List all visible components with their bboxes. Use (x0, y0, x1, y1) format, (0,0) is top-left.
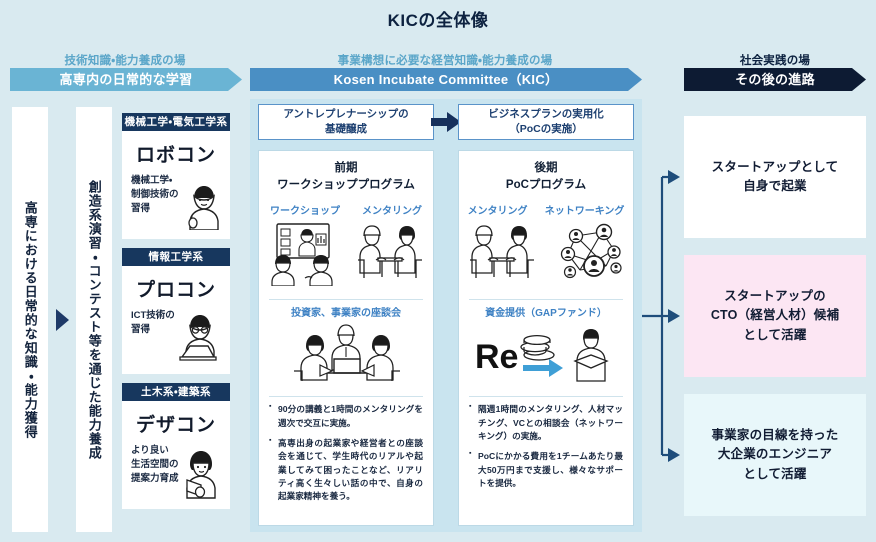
program-title-late: 後期PoCプログラム (459, 160, 633, 193)
contest-card-robocon: 機械工学・電気工学系 ロボコン 機械工学・制御技術の習得 (122, 113, 230, 239)
right-column-caption: 社会実践の場 (684, 52, 866, 68)
pillar-creative-training: 創造系演習・コンテスト等を通じた能力養成 (76, 107, 112, 532)
program-title-early: 前期ワークショッププログラム (259, 160, 433, 193)
divider (269, 396, 423, 397)
bullet-item: 隔週1時間のメンタリング、人材マッチング、VCとの相談会（ネットワーキング）の実… (469, 403, 623, 443)
sublabel: メンタリング (468, 202, 528, 217)
program-bullets-early: 90分の講義と1時間のメンタリングを週次で交互に実施。 高専出身の起業家や経営者… (269, 403, 423, 503)
center-column-banner-label: Kosen Incubate Committee（KIC） (250, 68, 642, 91)
network-nodes-icon (550, 220, 628, 291)
outcome-box-startup-founder: スタートアップとして自身で起業 (684, 116, 866, 238)
program-sublabels-early: ワークショップ メンタリング (259, 202, 433, 217)
contest-card-head: 機械工学・電気工学系 (122, 113, 230, 131)
bullet-item: 高専出身の起業家や経営者との座談会を通じて、学生時代のリアルや起業してみて困った… (269, 437, 423, 504)
mentoring-table-icon (352, 220, 428, 291)
outcome-box-enterprise-engineer: 事業家の目線を持った大企業のエンジニアとして活躍 (684, 394, 866, 516)
right-arrow-icon (431, 112, 461, 136)
center-column-caption: 事業構想に必要な経営知識・能力養成の場 (250, 52, 640, 68)
kic-pill-entrepreneurship: アントレプレナーシップの基礎醸成 (258, 104, 434, 140)
bullet-item: 90分の講義と1時間のメンタリングを週次で交互に実施。 (269, 403, 423, 430)
kic-pill-label: アントレプレナーシップの基礎醸成 (283, 107, 408, 136)
contest-card-sub: より良い生活空間の提案力育成 (131, 444, 230, 485)
sublabel: ネットワーキング (545, 202, 625, 217)
contest-card-dezacon: 土木系・建築系 デザコン より良い生活空間の提案力育成 (122, 383, 230, 509)
roundtable-discussion-icon (286, 321, 406, 390)
outcome-box-startup-cto: スタートアップのCTO（経営人材）候補として活躍 (684, 255, 866, 377)
funding-coins-icon: Re (471, 321, 621, 390)
outcome-label: スタートアップのCTO（経営人材）候補として活躍 (711, 287, 839, 345)
online-workshop-icon (265, 220, 341, 291)
contest-card-title: デザコン (122, 410, 230, 437)
pillar-flow-arrow-icon (56, 309, 69, 331)
outcome-label: 事業家の目線を持った大企業のエンジニアとして活躍 (711, 426, 838, 484)
right-column-banner: その後の進路 (684, 68, 866, 91)
program-card-late: 後期PoCプログラム メンタリング ネットワーキング (458, 150, 634, 526)
left-column-caption: 技術知識・能力養成の場 (10, 52, 240, 68)
contest-card-head: 情報工学系 (122, 248, 230, 266)
contest-card-title: プロコン (122, 275, 230, 302)
divider (469, 396, 623, 397)
left-column-banner: 高専内の日常的な学習 (10, 68, 242, 91)
left-column-banner-label: 高専内の日常的な学習 (10, 68, 242, 91)
program-bullets-late: 隔週1時間のメンタリング、人材マッチング、VCとの相談会（ネットワーキング）の実… (469, 403, 623, 490)
bullet-item: PoCにかかる費用を1チームあたり最大50万円まで支援し、様々なサポートを提供。 (469, 450, 623, 490)
program-sublabels-late: メンタリング ネットワーキング (459, 202, 633, 217)
kic-pill-label: ビジネスプランの実用化（PoCの実施） (488, 107, 604, 136)
sublabel: メンタリング (362, 202, 422, 217)
pillar-daily-knowledge: 高専における日常的な知識・能力獲得 (12, 107, 48, 532)
contest-card-head: 土木系・建築系 (122, 383, 230, 401)
program-card-early: 前期ワークショッププログラム ワークショップ メンタリング (258, 150, 434, 526)
center-column-banner: Kosen Incubate Committee（KIC） (250, 68, 642, 91)
outcome-label: スタートアップとして自身で起業 (712, 158, 839, 197)
contest-card-procon: 情報工学系 プロコン ICT技術の習得 (122, 248, 230, 374)
contest-card-title: ロボコン (122, 140, 230, 167)
divider (469, 299, 623, 300)
kic-pill-businessplan: ビジネスプランの実用化（PoCの実施） (458, 104, 634, 140)
re-logo-text: Re (475, 338, 518, 376)
contest-card-sub: 機械工学・制御技術の習得 (131, 174, 230, 215)
mentoring-table-icon (464, 220, 540, 291)
page-title: KICの全体像 (0, 6, 876, 31)
program-midlabel-late: 資金提供（GAPファンド） (459, 304, 633, 319)
program-midlabel-early: 投資家、事業家の座談会 (259, 304, 433, 319)
right-column-banner-label: その後の進路 (684, 68, 866, 91)
contest-card-sub: ICT技術の習得 (131, 309, 230, 337)
divider (269, 299, 423, 300)
sublabel: ワークショップ (270, 202, 340, 217)
infographic-canvas: KICの全体像 技術知識・能力養成の場 高専内の日常的な学習 高専における日常的… (0, 0, 876, 542)
